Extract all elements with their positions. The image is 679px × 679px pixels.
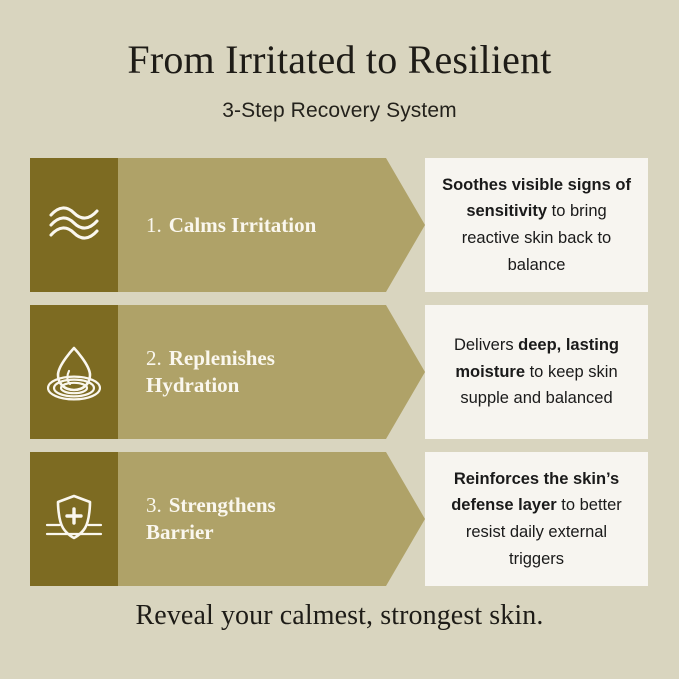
step-icon-panel — [30, 158, 118, 292]
step-row: 2.Replenishes Hydration Delivers deep, l… — [30, 305, 648, 439]
step-name: Replenishes Hydration — [146, 346, 275, 397]
step-name: Calms Irritation — [169, 213, 317, 237]
step-label: 3.Strengthens Barrier — [146, 492, 276, 546]
water-drop-icon — [47, 343, 101, 401]
step-icon-panel — [30, 452, 118, 586]
step-label-panel: 1.Calms Irritation — [118, 158, 425, 292]
shield-plus-icon — [45, 491, 103, 547]
step-name: Strengthens Barrier — [146, 493, 276, 544]
step-description: Soothes visible signs of sensitivity to … — [437, 172, 636, 279]
header: From Irritated to Resilient 3-Step Recov… — [0, 38, 679, 123]
footer-tagline: Reveal your calmest, strongest skin. — [0, 600, 679, 632]
step-number: 3. — [146, 493, 162, 517]
waves-icon — [47, 202, 101, 248]
step-description-lead: Delivers — [454, 336, 518, 354]
step-label: 1.Calms Irritation — [146, 212, 316, 239]
step-description: Delivers deep, lasting moisture to keep … — [437, 332, 636, 412]
page-subtitle: 3-Step Recovery System — [0, 99, 679, 123]
step-icon-panel — [30, 305, 118, 439]
step-description-panel: Delivers deep, lasting moisture to keep … — [425, 305, 648, 439]
step-label: 2.Replenishes Hydration — [146, 345, 275, 399]
step-row: 3.Strengthens Barrier Reinforces the ski… — [30, 452, 648, 586]
step-description-panel: Soothes visible signs of sensitivity to … — [425, 158, 648, 292]
step-label-panel: 2.Replenishes Hydration — [118, 305, 425, 439]
infographic-poster: From Irritated to Resilient 3-Step Recov… — [0, 0, 679, 679]
step-number: 1. — [146, 213, 162, 237]
step-number: 2. — [146, 346, 162, 370]
page-title: From Irritated to Resilient — [0, 38, 679, 83]
step-description: Reinforces the skin’s defense layer to b… — [437, 466, 636, 573]
step-row: 1.Calms Irritation Soothes visible signs… — [30, 158, 648, 292]
steps-list: 1.Calms Irritation Soothes visible signs… — [30, 158, 648, 586]
step-description-panel: Reinforces the skin’s defense layer to b… — [425, 452, 648, 586]
step-label-panel: 3.Strengthens Barrier — [118, 452, 425, 586]
